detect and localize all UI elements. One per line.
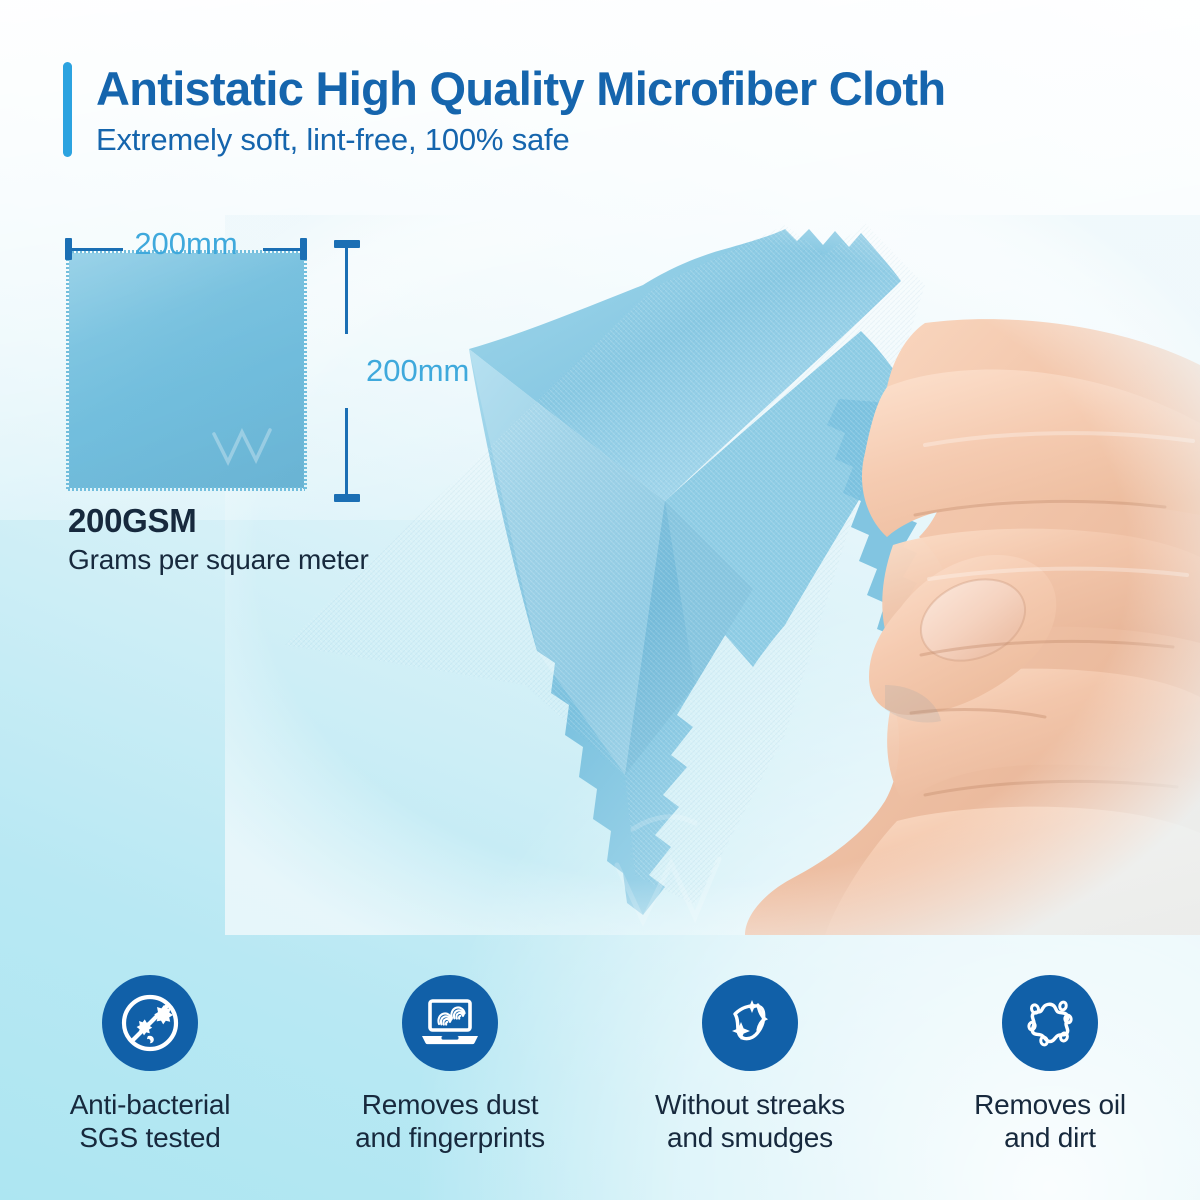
oil-splatter-icon <box>1002 975 1098 1071</box>
dimension-height: 200mm <box>334 240 494 502</box>
feature-list: Anti-bacterial SGS tested <box>0 975 1200 1154</box>
swatch-emboss-icon <box>202 416 282 476</box>
header-text: Antistatic High Quality Microfiber Cloth… <box>96 62 945 157</box>
page-title: Antistatic High Quality Microfiber Cloth <box>96 64 945 114</box>
page-subtitle: Extremely soft, lint-free, 100% safe <box>96 123 945 157</box>
accent-bar <box>63 62 72 157</box>
dimension-rule-top <box>345 246 348 334</box>
infographic-page: Antistatic High Quality Microfiber Cloth… <box>0 0 1200 1200</box>
dimension-diagram: 200mm 200mm <box>62 218 462 518</box>
dimension-width: 200mm <box>65 230 307 270</box>
feature-label: Anti-bacterial SGS tested <box>70 1088 231 1154</box>
feature-label: Removes dust and fingerprints <box>355 1088 545 1154</box>
dimension-rule-bottom <box>345 408 348 496</box>
header: Antistatic High Quality Microfiber Cloth… <box>63 62 1163 157</box>
gsm-block: 200GSM Grams per square meter <box>68 502 398 576</box>
dimension-height-label: 200mm <box>366 353 469 389</box>
dimension-width-label: 200mm <box>65 226 307 262</box>
feature-label: Without streaks and smudges <box>655 1088 845 1154</box>
hand-shape <box>745 319 1200 935</box>
sparkle-cloth-icon <box>702 975 798 1071</box>
feature-label: Removes oil and dirt <box>974 1088 1126 1154</box>
laptop-fingerprint-icon <box>402 975 498 1071</box>
feature-without-streaks: Without streaks and smudges <box>600 975 900 1154</box>
feature-anti-bacterial: Anti-bacterial SGS tested <box>0 975 300 1154</box>
feature-removes-oil: Removes oil and dirt <box>900 975 1200 1154</box>
feature-removes-dust: Removes dust and fingerprints <box>300 975 600 1154</box>
no-bacteria-icon <box>102 975 198 1071</box>
gsm-value: 200GSM <box>68 502 398 540</box>
cloth-swatch <box>69 253 304 488</box>
gsm-description: Grams per square meter <box>68 543 398 576</box>
cloth-emboss <box>617 817 719 921</box>
